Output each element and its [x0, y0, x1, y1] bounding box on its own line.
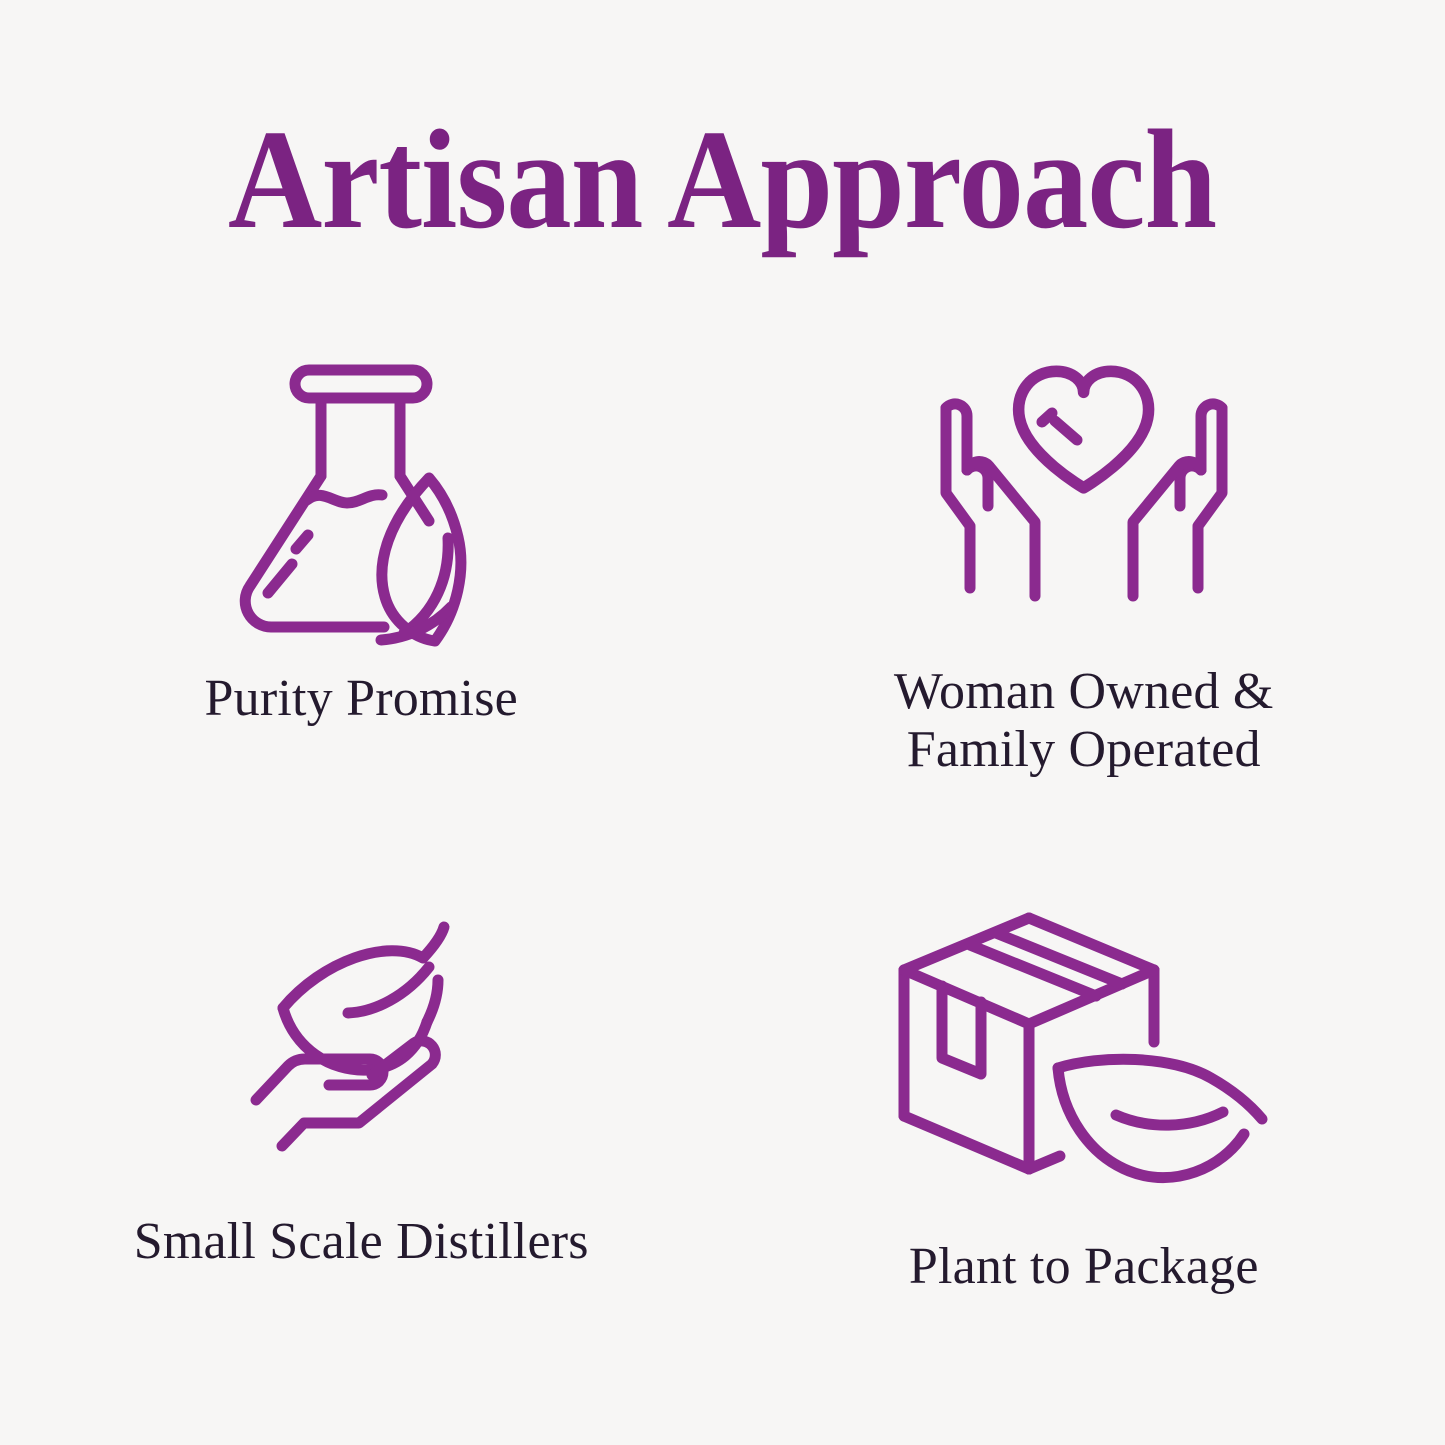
feature-item-woman-owned-family-operated: Woman Owned & Family Operated [723, 330, 1445, 860]
feature-item-small-scale-distillers: Small Scale Distillers [0, 860, 723, 1390]
feature-label: Purity Promise [205, 670, 518, 728]
page-title: Artisan Approach [228, 108, 1216, 250]
artisan-approach-infographic: Artisan Approach [0, 0, 1445, 1445]
feature-label: Small Scale Distillers [134, 1213, 589, 1271]
hand-holding-leaf-icon [226, 900, 496, 1165]
hands-holding-heart-icon [924, 348, 1244, 633]
flask-leaf-icon [216, 348, 506, 648]
feature-grid: Purity Promise [0, 330, 1445, 1390]
feature-label: Plant to Package [909, 1238, 1259, 1296]
box-leaf-icon [886, 900, 1281, 1190]
feature-item-purity-promise: Purity Promise [0, 330, 723, 860]
feature-label: Woman Owned & Family Operated [894, 663, 1274, 779]
page-title-container: Artisan Approach [0, 108, 1445, 250]
feature-item-plant-to-package: Plant to Package [723, 860, 1445, 1390]
